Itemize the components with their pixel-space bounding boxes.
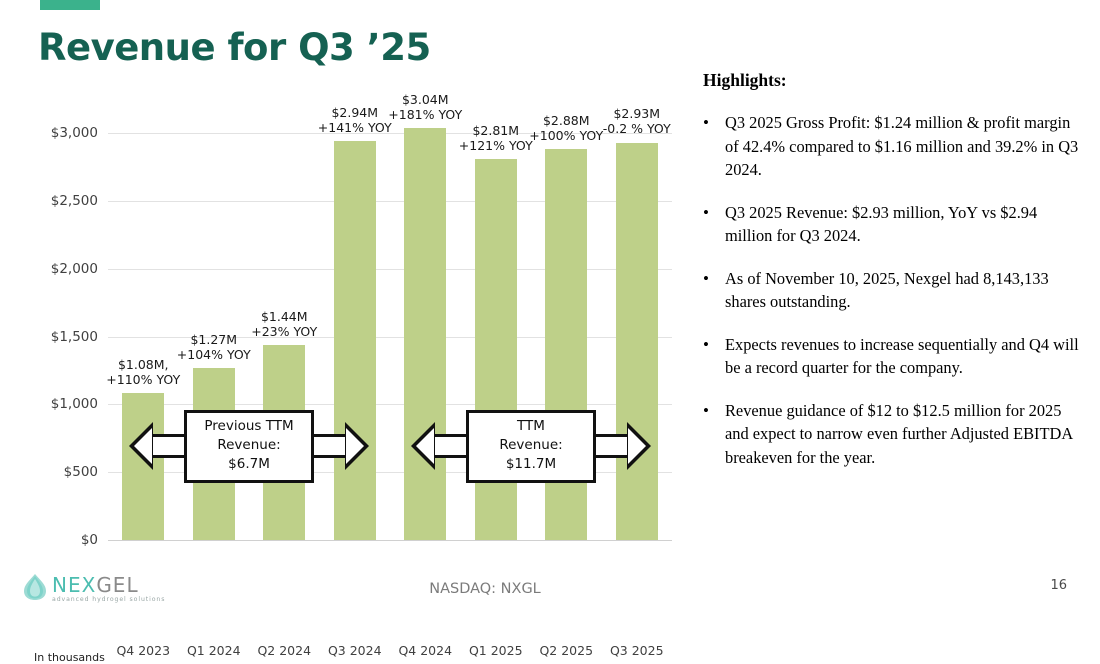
units-note: In thousands <box>34 651 105 664</box>
bar-yoy-label: +23% YOY <box>234 324 334 339</box>
arrow-right-icon <box>627 422 651 470</box>
bar-label-group: $1.44M+23% YOY <box>234 309 334 339</box>
bar-yoy-label: +141% YOY <box>305 120 405 135</box>
highlight-text: Q3 2025 Gross Profit: $1.24 million & pr… <box>725 111 1083 182</box>
y-axis-tick-label: $2,000 <box>51 261 98 277</box>
bullet-icon: • <box>703 333 725 380</box>
ttm-callout-box: Previous TTMRevenue:$6.7M <box>184 410 314 483</box>
highlight-bullet: •Revenue guidance of $12 to $12.5 millio… <box>703 399 1083 470</box>
axis-baseline <box>108 540 672 541</box>
ttm-callout-line: Revenue: <box>479 436 583 455</box>
bar-value-label: $1.44M <box>234 309 334 324</box>
x-axis-tick-label: Q3 2025 <box>592 643 682 658</box>
ttm-annotation: TTMRevenue:$11.7M <box>411 410 651 482</box>
y-axis-tick-label: $1,500 <box>51 329 98 345</box>
title-accent-bar <box>40 0 100 10</box>
bullet-icon: • <box>703 111 725 182</box>
gridline <box>108 269 672 270</box>
revenue-bar-chart: $0$500$1,000$1,500$2,000$2,500$3,000 Pre… <box>0 95 690 565</box>
ticker-label: NASDAQ: NXGL <box>0 581 970 597</box>
page-number: 16 <box>1050 578 1067 593</box>
highlights-title: Highlights: <box>703 70 1083 91</box>
highlights-list: •Q3 2025 Gross Profit: $1.24 million & p… <box>703 111 1083 469</box>
bar-yoy-label: +181% YOY <box>375 107 475 122</box>
arrow-left-icon <box>411 422 435 470</box>
ttm-callout-line: TTM <box>479 417 583 436</box>
highlight-text: Revenue guidance of $12 to $12.5 million… <box>725 399 1083 470</box>
y-axis-tick-label: $500 <box>64 464 98 480</box>
highlights-panel: Highlights: •Q3 2025 Gross Profit: $1.24… <box>703 70 1083 488</box>
highlight-text: Q3 2025 Revenue: $2.93 million, YoY vs $… <box>725 201 1083 248</box>
bar-yoy-label: +104% YOY <box>164 347 264 362</box>
ttm-callout-line: Revenue: <box>197 436 301 455</box>
y-axis-tick-label: $3,000 <box>51 125 98 141</box>
ttm-callout-line: Previous TTM <box>197 417 301 436</box>
ttm-callout-box: TTMRevenue:$11.7M <box>466 410 596 483</box>
bar-label-group: $1.08M,+110% YOY <box>93 357 193 387</box>
ttm-callout-line: $6.7M <box>197 455 301 474</box>
gridline <box>108 201 672 202</box>
page-title: Revenue for Q3 ’25 <box>38 26 431 69</box>
y-axis-tick-label: $0 <box>81 532 98 548</box>
bullet-icon: • <box>703 399 725 470</box>
bullet-icon: • <box>703 201 725 248</box>
highlight-text: Expects revenues to increase sequentiall… <box>725 333 1083 380</box>
bar-value-label: $2.93M <box>587 106 687 121</box>
bar-label-group: $2.93M-0.2 % YOY <box>587 106 687 136</box>
ttm-annotation: Previous TTMRevenue:$6.7M <box>129 410 369 482</box>
highlight-bullet: •Q3 2025 Revenue: $2.93 million, YoY vs … <box>703 201 1083 248</box>
highlight-bullet: •Q3 2025 Gross Profit: $1.24 million & p… <box>703 111 1083 182</box>
y-axis-tick-label: $2,500 <box>51 193 98 209</box>
arrow-left-icon <box>129 422 153 470</box>
arrow-right-icon <box>345 422 369 470</box>
bullet-icon: • <box>703 267 725 314</box>
highlight-bullet: •Expects revenues to increase sequential… <box>703 333 1083 380</box>
highlight-bullet: •As of November 10, 2025, Nexgel had 8,1… <box>703 267 1083 314</box>
ttm-callout-line: $11.7M <box>479 455 583 474</box>
y-axis-tick-label: $1,000 <box>51 396 98 412</box>
logo-tagline: advanced hydrogel solutions <box>52 597 165 603</box>
bar-yoy-label: +110% YOY <box>93 372 193 387</box>
bar-yoy-label: -0.2 % YOY <box>587 121 687 136</box>
highlight-text: As of November 10, 2025, Nexgel had 8,14… <box>725 267 1083 314</box>
bar-label-group: $3.04M+181% YOY <box>375 92 475 122</box>
bar-value-label: $3.04M <box>375 92 475 107</box>
